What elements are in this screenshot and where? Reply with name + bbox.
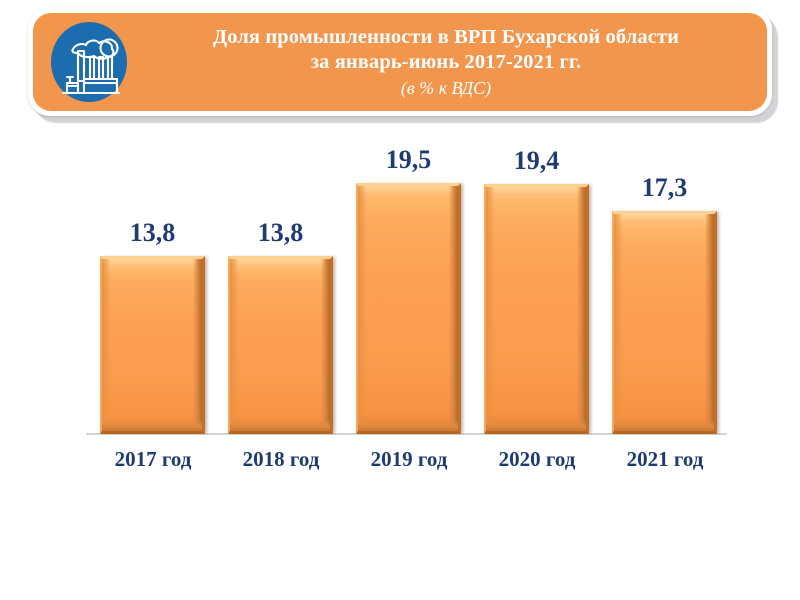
bar-bevel-left bbox=[486, 187, 495, 431]
bar-bevel-right bbox=[449, 186, 458, 431]
bar-2017[interactable] bbox=[100, 256, 205, 434]
bar-value-label: 19,4 bbox=[484, 146, 589, 176]
bar-bevel-left bbox=[358, 186, 367, 431]
bar-bevel-right bbox=[577, 187, 586, 431]
title-subtitle: (в % к ВДС) bbox=[141, 78, 751, 100]
banner-body: Доля промышленности в ВРП Бухарской обла… bbox=[33, 13, 767, 111]
bar-bevel-left bbox=[614, 214, 623, 431]
title-line-2: за январь-июнь 2017-2021 гг. bbox=[141, 50, 751, 75]
category-label: 2017 год bbox=[90, 447, 216, 472]
bar-2019[interactable] bbox=[356, 183, 461, 434]
bar-value-label: 13,8 bbox=[228, 218, 333, 248]
bar-group: 13,8 bbox=[228, 150, 333, 434]
bar-2018[interactable] bbox=[228, 256, 333, 434]
category-label: 2018 год bbox=[218, 447, 344, 472]
bar-2020[interactable] bbox=[484, 184, 589, 434]
header-banner: Доля промышленности в ВРП Бухарской обла… bbox=[28, 8, 772, 116]
bar-group: 19,5 bbox=[356, 150, 461, 434]
bar-group: 19,4 bbox=[484, 150, 589, 434]
page-title: Доля промышленности в ВРП Бухарской обла… bbox=[141, 25, 751, 100]
bar-2021[interactable] bbox=[612, 211, 717, 434]
bar-value-label: 19,5 bbox=[356, 145, 461, 175]
factory-icon bbox=[47, 19, 131, 105]
bar-bevel-left bbox=[230, 259, 239, 431]
bar-bevel-left bbox=[102, 259, 111, 431]
bar-bevel-right bbox=[321, 259, 330, 431]
category-label: 2019 год bbox=[346, 447, 472, 472]
bar-bevel-right bbox=[193, 259, 202, 431]
bar-group: 17,3 bbox=[612, 150, 717, 434]
bar-group: 13,8 bbox=[100, 150, 205, 434]
category-label: 2021 год bbox=[602, 447, 728, 472]
category-label: 2020 год bbox=[474, 447, 600, 472]
bar-value-label: 13,8 bbox=[100, 218, 205, 248]
bar-bevel-right bbox=[705, 214, 714, 431]
title-line-1: Доля промышленности в ВРП Бухарской обла… bbox=[141, 25, 751, 50]
plot-area: 13,82017 год13,82018 год19,52019 год19,4… bbox=[86, 150, 726, 434]
bar-value-label: 17,3 bbox=[612, 173, 717, 203]
bar-chart: 13,82017 год13,82018 год19,52019 год19,4… bbox=[0, 150, 800, 510]
